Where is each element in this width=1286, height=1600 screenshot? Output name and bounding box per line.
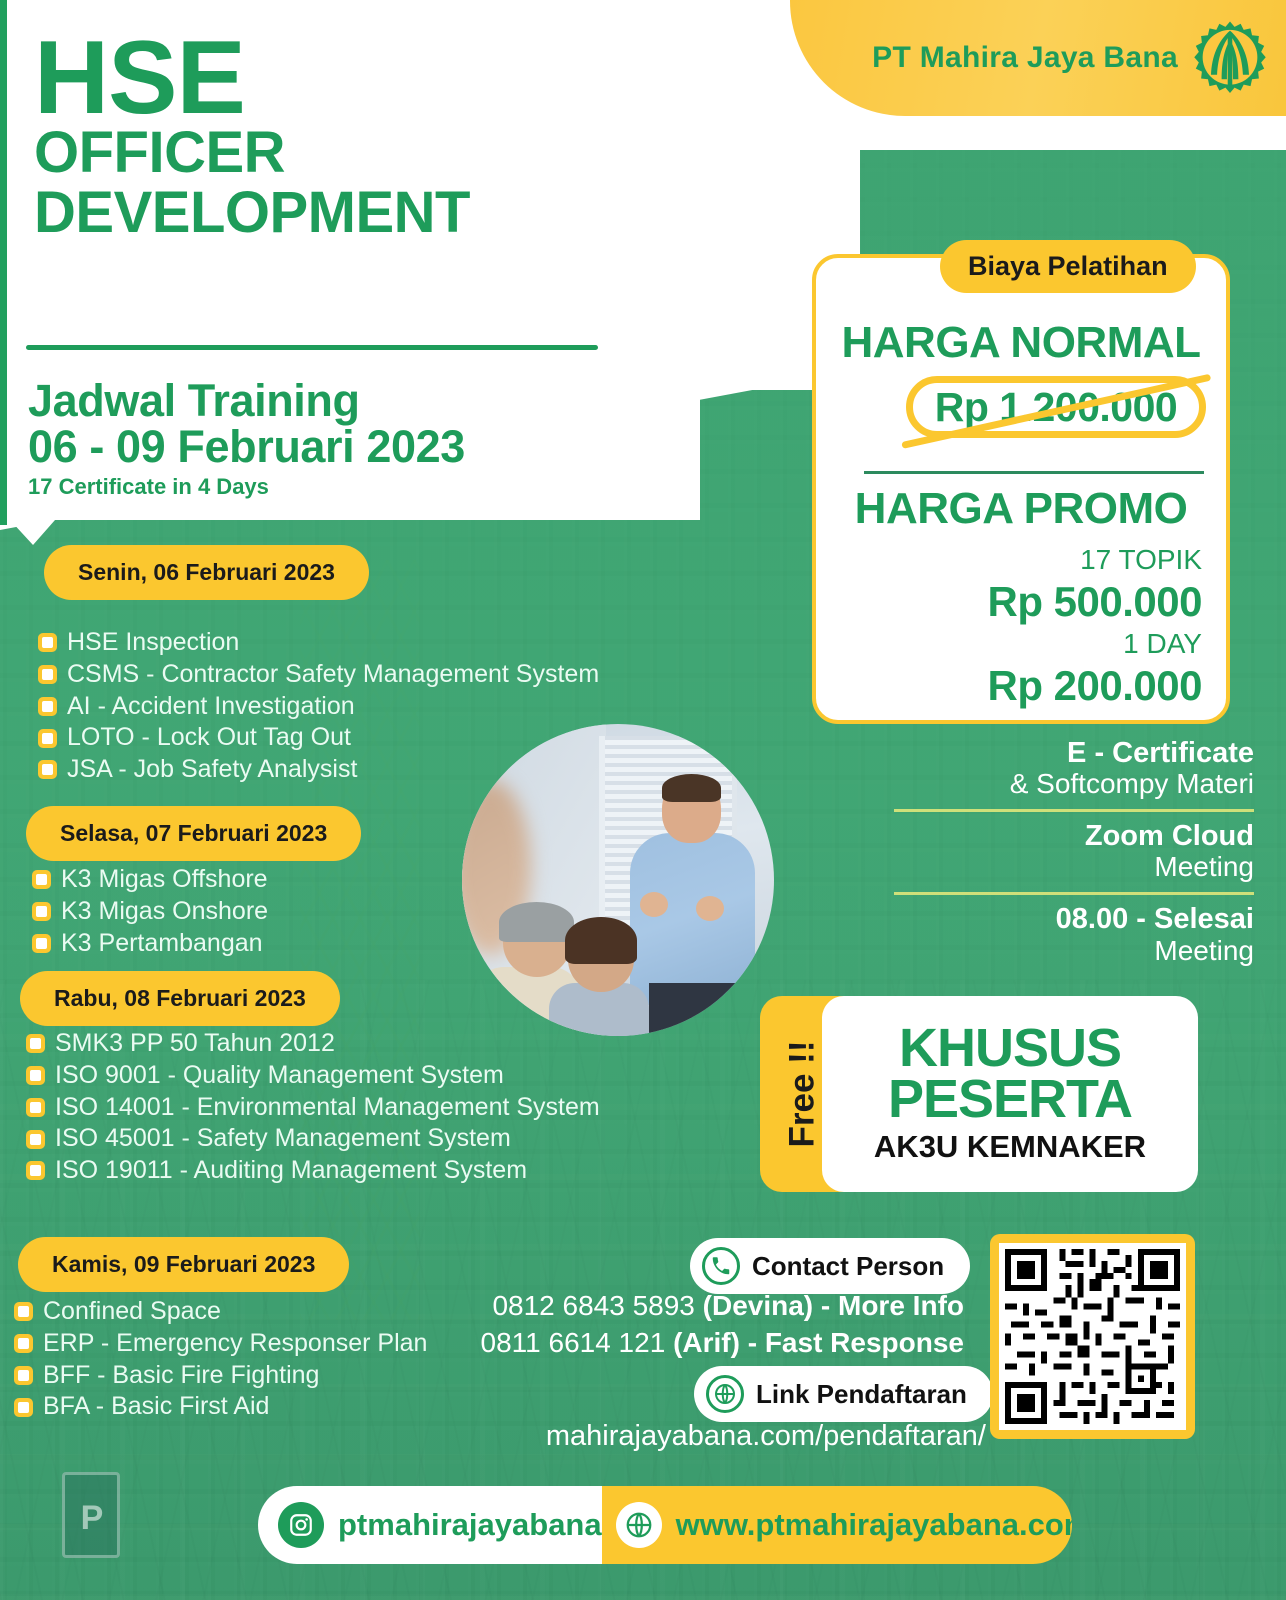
certificate-strong: E - Certificate [894, 738, 1254, 769]
gear-tree-logo-icon [1192, 20, 1268, 96]
promo-row-0-value: Rp 500.000 [988, 578, 1202, 626]
schedule-title: Jadwal Training [28, 378, 465, 424]
list-item: K3 Migas Onshore [32, 897, 268, 927]
whatsapp-phone-icon [702, 1247, 740, 1285]
time-light: Meeting [894, 936, 1254, 967]
khusus-line-2: PESERTA [888, 1074, 1132, 1125]
certificate-light: & Softcompy Materi [894, 769, 1254, 800]
list-item: AI - Accident Investigation [38, 692, 599, 722]
info-stack: E - Certificate & Softcompy Materi Zoom … [894, 738, 1254, 966]
course-list-rabu: SMK3 PP 50 Tahun 2012 ISO 9001 - Quality… [26, 1029, 600, 1188]
instagram-icon [278, 1502, 324, 1548]
contact-row: 0811 6614 121 (Arif) - Fast Response [481, 1325, 965, 1362]
course-list-selasa: K3 Migas Offshore K3 Migas Onshore K3 Pe… [32, 865, 268, 960]
platform-strong: Zoom Cloud [894, 821, 1254, 852]
list-item: CSMS - Contractor Safety Management Syst… [38, 660, 599, 690]
course-label: K3 Migas Offshore [61, 865, 268, 895]
course-label: LOTO - Lock Out Tag Out [67, 723, 351, 753]
globe-icon [616, 1502, 662, 1548]
course-label: ISO 9001 - Quality Management System [55, 1061, 504, 1091]
bullet-icon [26, 1130, 45, 1149]
registration-url[interactable]: mahirajayabana.com/pendaftaran/ [546, 1420, 986, 1453]
website-chip[interactable]: www.ptmahirajayabana.com [602, 1486, 1072, 1564]
price-badge: Biaya Pelatihan [940, 240, 1196, 293]
contact-number-0: 0812 6843 5893 [492, 1290, 694, 1321]
instagram-handle: ptmahirajayabana [338, 1507, 602, 1543]
schedule-header: Jadwal Training 06 - 09 Februari 2023 17… [28, 378, 465, 500]
contact-name-1: (Arif) - Fast Response [673, 1327, 964, 1358]
footer-bar: ptmahirajayabana www.ptmahirajayabana.co… [258, 1486, 1072, 1564]
bullet-icon [38, 729, 57, 748]
hero-line-3: DEVELOPMENT [34, 183, 470, 242]
course-label: HSE Inspection [67, 628, 239, 658]
bullet-icon [26, 1034, 45, 1053]
bullet-icon [26, 1066, 45, 1085]
left-green-stripe [0, 0, 7, 525]
hero-title: HSE OFFICER DEVELOPMENT [34, 34, 470, 242]
list-item: ISO 45001 - Safety Management System [26, 1124, 600, 1154]
normal-price-label: HARGA NORMAL [816, 318, 1226, 368]
bullet-icon [32, 902, 51, 921]
khusus-line-1: KHUSUS [899, 1023, 1121, 1074]
course-label: ISO 19011 - Auditing Management System [55, 1156, 527, 1186]
day-pill-selasa: Selasa, 07 Februari 2023 [26, 806, 361, 861]
bullet-icon [38, 760, 57, 779]
khusus-line-3: AK3U KEMNAKER [874, 1128, 1146, 1165]
course-label: ISO 14001 - Environmental Management Sys… [55, 1093, 600, 1123]
bullet-icon [38, 697, 57, 716]
list-item: HSE Inspection [38, 628, 599, 658]
course-label: CSMS - Contractor Safety Management Syst… [67, 660, 599, 690]
day-pill-senin: Senin, 06 Februari 2023 [44, 545, 369, 600]
promo-price-label: HARGA PROMO [816, 484, 1226, 534]
bullet-icon [14, 1366, 33, 1385]
list-item: BFF - Basic Fire Fighting [14, 1361, 427, 1391]
list-item: ISO 9001 - Quality Management System [26, 1061, 600, 1091]
price-divider [864, 471, 1204, 474]
course-label: BFA - Basic First Aid [43, 1392, 269, 1422]
training-photo [462, 724, 774, 1036]
list-item: ISO 14001 - Environmental Management Sys… [26, 1093, 600, 1123]
poster-root: P PT Mahira Jaya Bana HSE OFFICER DEVELO… [0, 0, 1286, 1600]
course-list-kamis: Confined Space ERP - Emergency Responser… [14, 1253, 427, 1424]
info-divider-1 [894, 809, 1254, 812]
course-label: ISO 45001 - Safety Management System [55, 1124, 511, 1154]
contact-person-pill[interactable]: Contact Person [690, 1238, 970, 1294]
bullet-icon [14, 1302, 33, 1321]
course-label: BFF - Basic Fire Fighting [43, 1361, 319, 1391]
link-pendaftaran-label: Link Pendaftaran [756, 1379, 967, 1410]
bullet-icon [38, 665, 57, 684]
contact-person-label: Contact Person [752, 1251, 944, 1282]
qr-code [999, 1243, 1186, 1430]
course-label: K3 Pertambangan [61, 929, 263, 959]
website-url: www.ptmahirajayabana.com [676, 1507, 1072, 1543]
header-bar: PT Mahira Jaya Bana [790, 0, 1286, 116]
platform-light: Meeting [894, 852, 1254, 883]
list-item: K3 Pertambangan [32, 929, 268, 959]
course-label: Confined Space [43, 1297, 221, 1327]
contact-number-1: 0811 6614 121 [481, 1327, 666, 1358]
schedule-subtitle: 17 Certificate in 4 Days [28, 474, 465, 500]
qr-code-frame[interactable] [990, 1234, 1195, 1439]
day-pill-rabu: Rabu, 08 Februari 2023 [20, 971, 340, 1026]
info-divider-2 [894, 892, 1254, 895]
bullet-icon [38, 633, 57, 652]
list-item: Confined Space [14, 1297, 427, 1327]
course-label: SMK3 PP 50 Tahun 2012 [55, 1029, 335, 1059]
contact-name-0: (Devina) - More Info [703, 1290, 964, 1321]
list-item: ISO 19011 - Auditing Management System [26, 1156, 600, 1186]
khusus-peserta-banner: Free !! KHUSUS PESERTA AK3U KEMNAKER [760, 996, 1198, 1192]
hero-line-1: HSE [34, 34, 470, 123]
link-pendaftaran-pill[interactable]: Link Pendaftaran [694, 1366, 993, 1422]
contact-row: 0812 6843 5893 (Devina) - More Info [481, 1288, 965, 1325]
promo-row-0-label: 17 TOPIK [1080, 544, 1202, 576]
globe-icon [706, 1375, 744, 1413]
promo-row-1-value: Rp 200.000 [988, 662, 1202, 710]
bullet-icon [26, 1098, 45, 1117]
course-label: ERP - Emergency Responser Plan [43, 1329, 427, 1359]
schedule-dates: 06 - 09 Februari 2023 [28, 424, 465, 470]
bullet-icon [26, 1161, 45, 1180]
khusus-body: KHUSUS PESERTA AK3U KEMNAKER [822, 996, 1198, 1192]
bullet-icon [32, 934, 51, 953]
title-divider [26, 345, 598, 350]
price-card: HARGA NORMAL Rp 1.200.000 HARGA PROMO 17… [812, 254, 1230, 724]
list-item: K3 Migas Offshore [32, 865, 268, 895]
parking-sign-graphic: P [62, 1472, 120, 1558]
bullet-icon [14, 1334, 33, 1353]
list-item: BFA - Basic First Aid [14, 1392, 427, 1422]
course-label: K3 Migas Onshore [61, 897, 268, 927]
bullet-icon [32, 870, 51, 889]
hero-line-2: OFFICER [34, 123, 470, 182]
free-label: Free !! [782, 1041, 822, 1148]
course-label: JSA - Job Safety Analysist [67, 755, 357, 785]
time-strong: 08.00 - Selesai [894, 904, 1254, 935]
bullet-icon [14, 1398, 33, 1417]
contact-numbers: 0812 6843 5893 (Devina) - More Info 0811… [481, 1288, 965, 1362]
instagram-chip[interactable]: ptmahirajayabana [258, 1486, 602, 1564]
list-item: ERP - Emergency Responser Plan [14, 1329, 427, 1359]
company-name: PT Mahira Jaya Bana [872, 41, 1178, 75]
course-label: AI - Accident Investigation [67, 692, 355, 722]
promo-row-1-label: 1 DAY [1123, 628, 1202, 660]
